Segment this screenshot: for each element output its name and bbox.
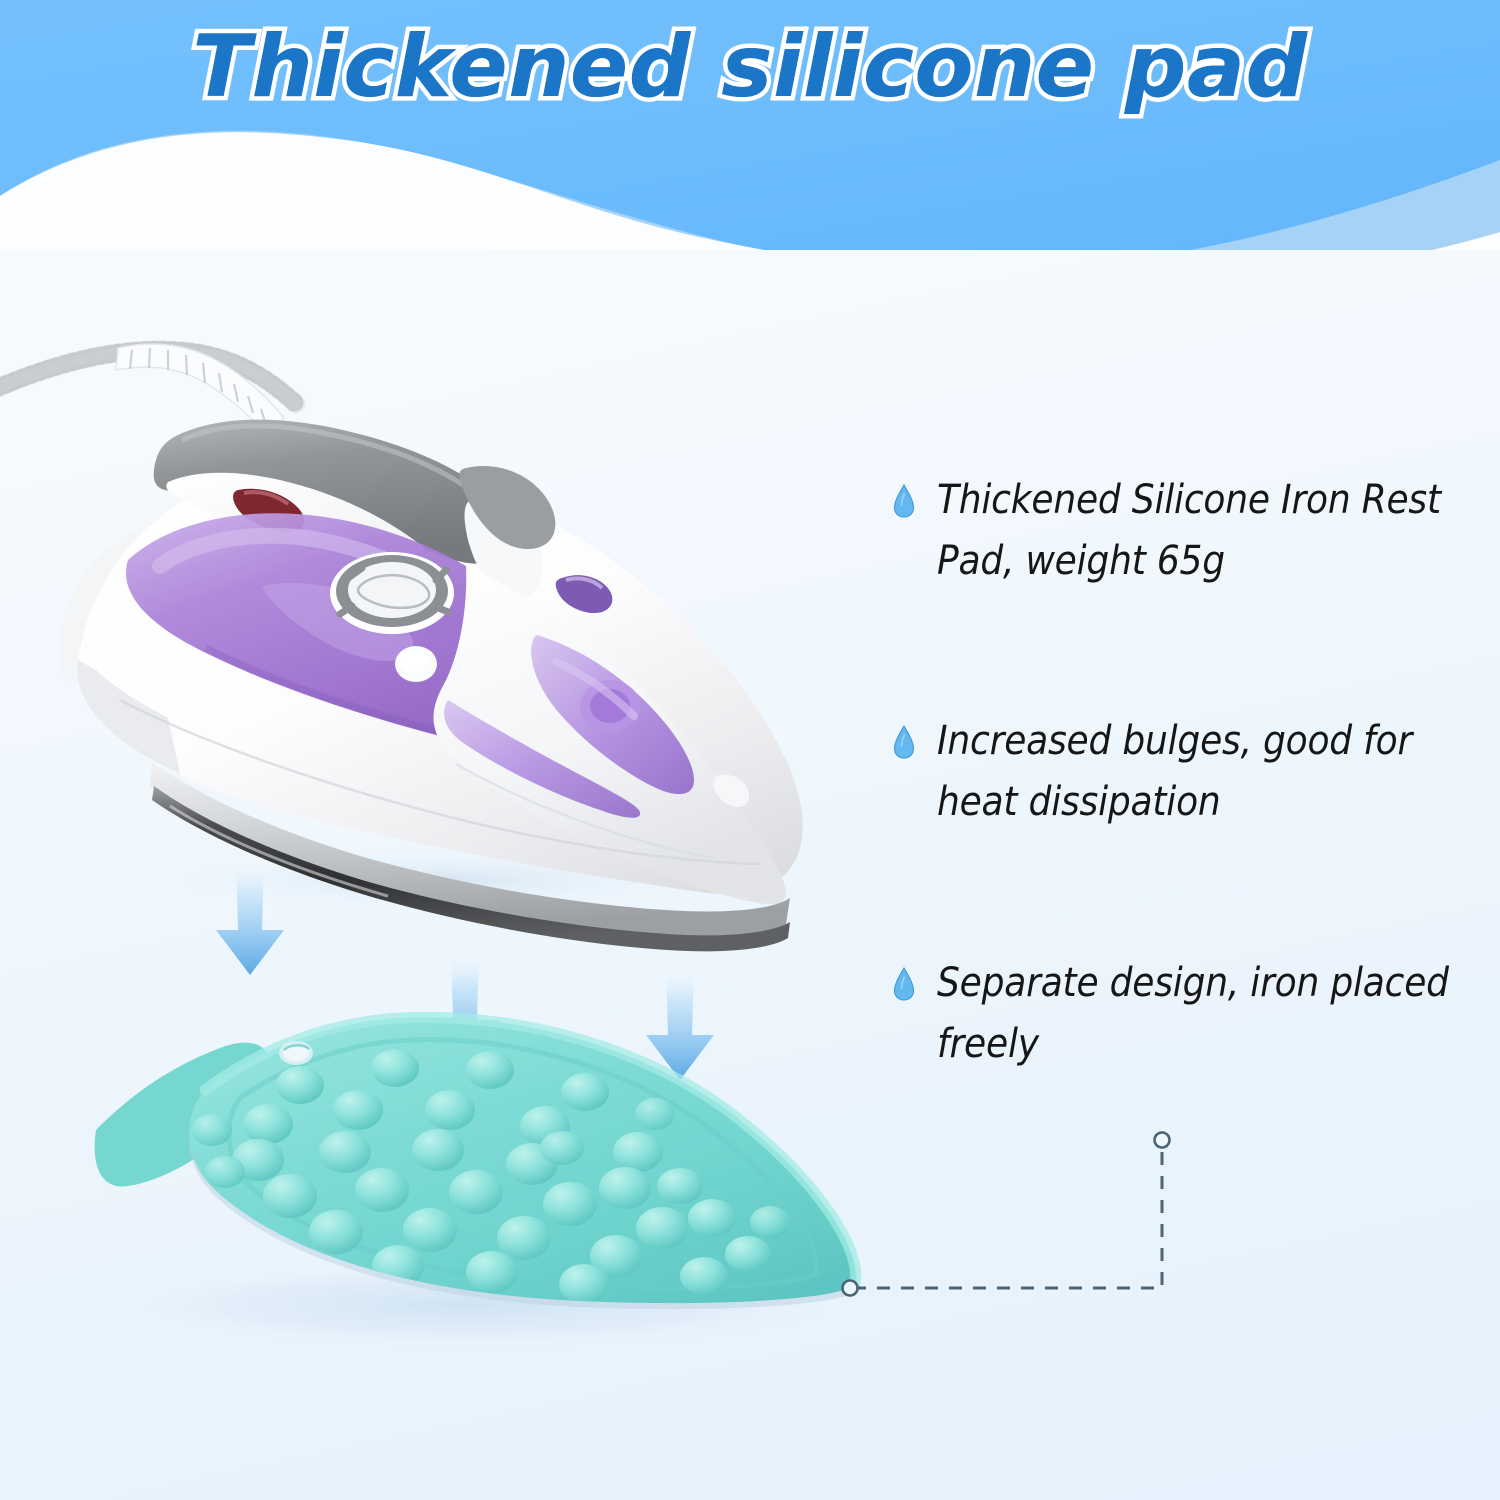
iron-rear-face: [77, 660, 180, 774]
feature-text: Thickened Silicone Iron Rest Pad, weight…: [937, 470, 1493, 592]
iron-body: [77, 465, 802, 894]
iron-back-plate: [60, 506, 176, 686]
water-drop-icon: [893, 967, 915, 1006]
spray-button-highlight: [400, 650, 428, 672]
front-tip-tab: [714, 775, 749, 807]
dial-face: [348, 562, 436, 618]
handle-front-grip: [459, 466, 555, 549]
steam-burst-highlight: [566, 578, 602, 588]
header-banner: Thickened silicone pad Thickened silicon…: [0, 0, 1500, 250]
steam-burst-button[interactable]: [556, 575, 613, 613]
pad-body: [189, 1017, 856, 1303]
iron-shadow: [160, 848, 720, 912]
cord-strain-relief: [116, 344, 284, 436]
indicator-light-highlight: [244, 492, 288, 504]
dial-notches: [340, 568, 448, 614]
leader-path: [853, 1143, 1162, 1288]
water-drop-icon: [893, 725, 915, 764]
nose-seam: [456, 764, 714, 858]
handle-highlight: [182, 426, 476, 494]
pad-shadow: [110, 1263, 830, 1347]
handle-collar: [166, 473, 472, 635]
nose-purple-groove: [444, 700, 640, 818]
down-arrow-group: [216, 855, 714, 1080]
down-arrow-3: [646, 960, 714, 1080]
steam-control-dial[interactable]: [330, 552, 454, 634]
feature-text: Separate design, iron placed freely: [937, 953, 1493, 1075]
page-title: Thickened silicone pad: [0, 17, 1500, 118]
spray-nozzle-inner: [590, 689, 630, 723]
dial-mark: [358, 575, 429, 608]
pad-shadow-edge: [189, 1023, 858, 1309]
down-arrow-2: [431, 945, 499, 1065]
feature-item-3: Separate design, iron placed freely: [893, 953, 1493, 1075]
leader-endpoint-start: [843, 1281, 858, 1296]
iron-nose-shell: [434, 566, 786, 904]
tank-highlight-top: [160, 536, 426, 580]
water-drop-icon: [893, 484, 915, 523]
spray-nozzle: [580, 680, 640, 732]
pad-bumps: [192, 1049, 790, 1304]
soleplate-rim: [150, 762, 790, 937]
steam-iron: [0, 344, 803, 951]
leader-endpoint-end: [1155, 1133, 1170, 1148]
tank-highlight-blob: [262, 583, 413, 661]
infographic-page: Thickened silicone pad Thickened silicon…: [0, 0, 1500, 1500]
front-window-highlight: [556, 662, 634, 716]
pad-hanging-hole: [279, 1041, 313, 1065]
dial-base: [330, 552, 454, 634]
pad-inner-border: [229, 1040, 816, 1288]
down-arrow-1: [216, 855, 284, 975]
water-tank: [126, 513, 594, 752]
dial-ring: [336, 555, 448, 627]
handle-front-post: [465, 500, 543, 598]
spray-button[interactable]: [395, 646, 437, 682]
power-cord: [0, 344, 296, 436]
feature-item-2: Increased bulges, good for heat dissipat…: [893, 711, 1493, 833]
feature-text: Increased bulges, good for heat dissipat…: [937, 711, 1493, 833]
soleplate-glint: [170, 806, 388, 896]
pad-rim-highlight: [205, 1017, 856, 1284]
body-seam: [120, 700, 760, 864]
iron-handle: [154, 420, 517, 564]
front-water-window: [531, 635, 694, 794]
feature-item-1: Thickened Silicone Iron Rest Pad, weight…: [893, 470, 1493, 592]
pad-tail: [95, 1043, 271, 1187]
tank-lower-edge: [206, 648, 442, 732]
soleplate: [152, 786, 790, 951]
indicator-light: [233, 489, 304, 532]
silicone-iron-rest-pad: [95, 1017, 858, 1309]
dimension-leader-line: [843, 1133, 1170, 1296]
